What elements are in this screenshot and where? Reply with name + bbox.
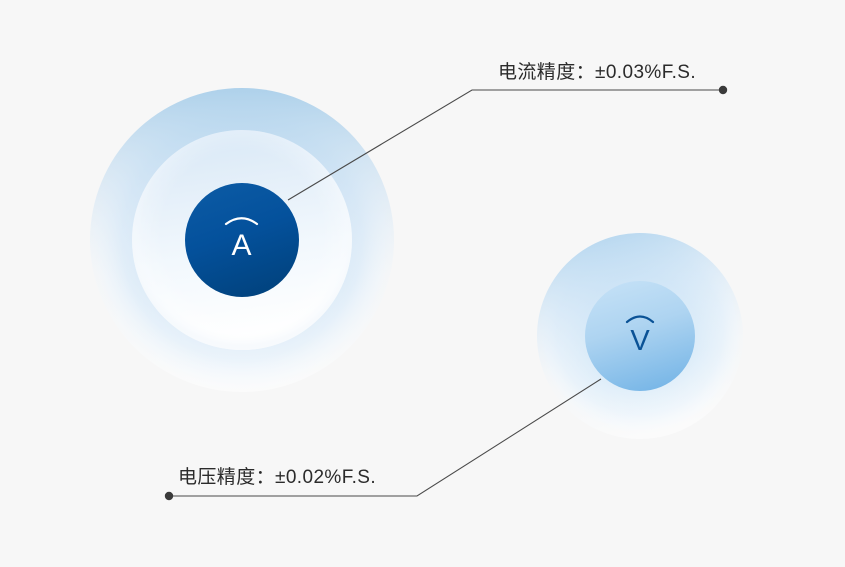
voltmeter-node: V — [536, 232, 744, 440]
voltage-leader-dot — [165, 492, 173, 500]
voltage-accuracy-label: 电压精度：±0.02%F.S. — [178, 462, 376, 489]
accuracy-diagram: A V 电流精度：±0.03%F.S. 电压精度：±0.02%F.S. — [0, 0, 845, 567]
ammeter-node: A — [88, 86, 396, 394]
current-accuracy-label: 电流精度：±0.03%F.S. — [498, 57, 696, 84]
current-leader-dot — [719, 86, 727, 94]
voltmeter-symbol-letter: V — [630, 325, 650, 357]
diagram-canvas: A V — [0, 0, 845, 567]
ammeter-symbol-letter: A — [231, 229, 251, 262]
